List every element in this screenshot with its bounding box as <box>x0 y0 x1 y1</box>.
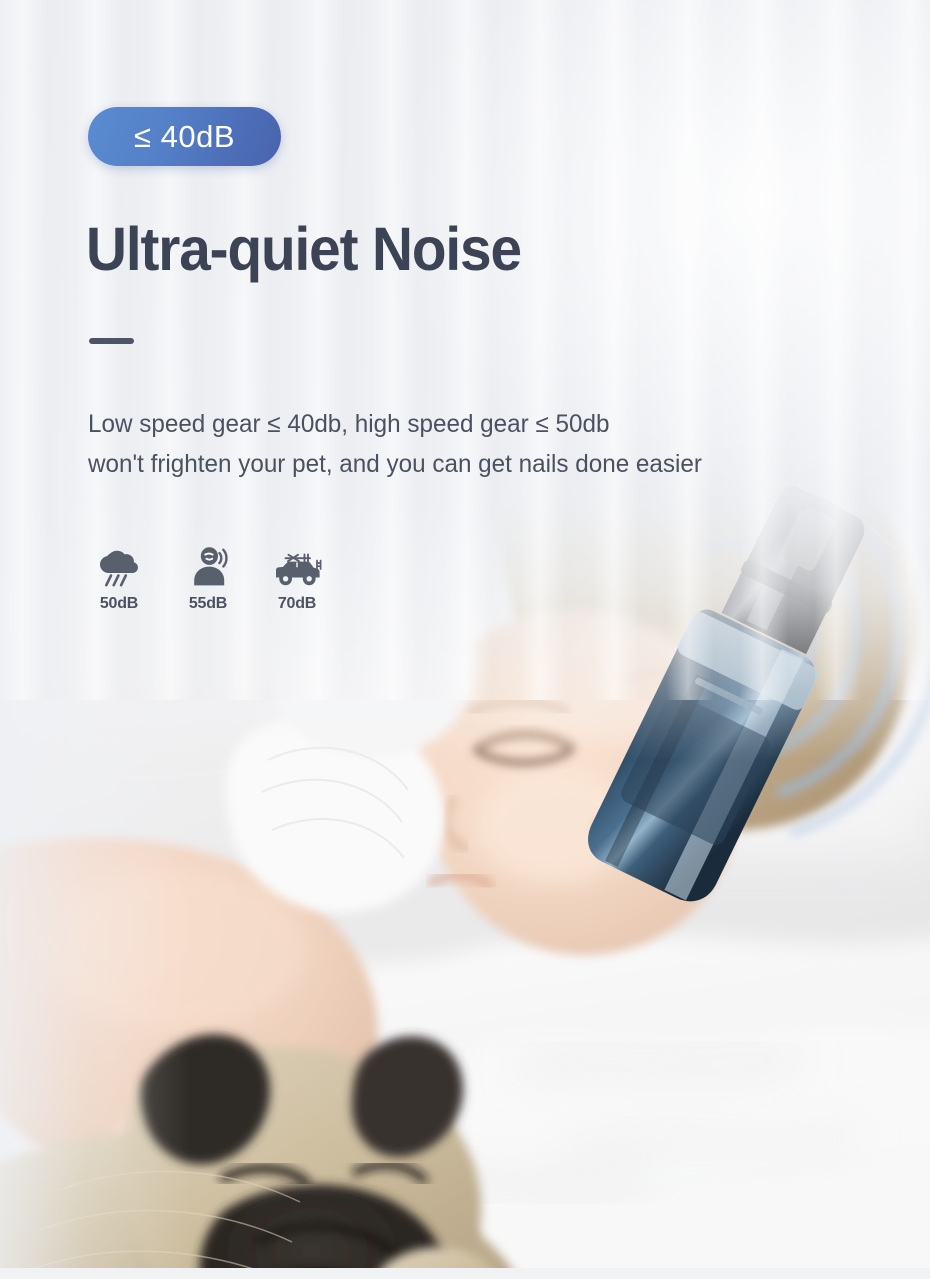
noise-badge: ≤ 40dB <box>88 107 281 166</box>
noise-label-car: 70dB <box>278 595 316 613</box>
noise-item-car: 70dB <box>266 543 328 613</box>
noise-label-person: 55dB <box>189 595 227 613</box>
noise-comparison-row: 50dB <box>88 543 328 613</box>
title-divider <box>89 338 134 344</box>
page-title: Ultra-quiet Noise <box>86 214 521 284</box>
noise-item-person: 55dB <box>177 543 239 613</box>
person-talking-icon <box>187 543 229 587</box>
rain-cloud-icon <box>99 543 139 587</box>
noise-item-rain: 50dB <box>88 543 150 613</box>
suv-car-icon <box>272 543 322 587</box>
product-feature-page: ≤ 40dB Ultra-quiet Noise Low speed gear … <box>0 0 930 1279</box>
description-text: Low speed gear ≤ 40db, high speed gear ≤… <box>88 404 702 484</box>
description-line-1: Low speed gear ≤ 40db, high speed gear ≤… <box>88 404 702 444</box>
description-line-2: won't frighten your pet, and you can get… <box>88 444 702 484</box>
noise-label-rain: 50dB <box>100 595 138 613</box>
